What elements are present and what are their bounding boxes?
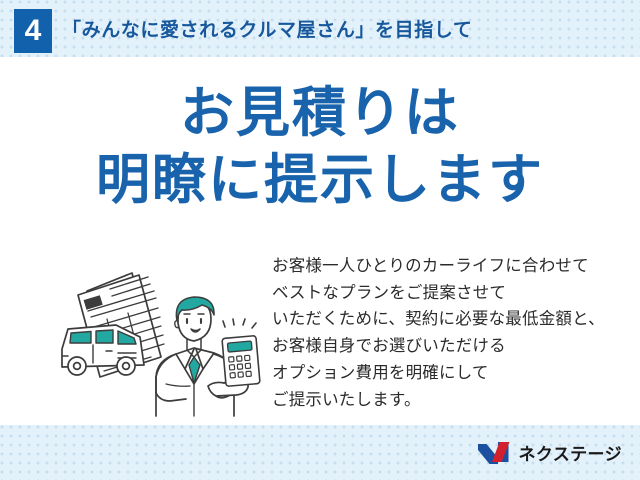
headline: お見積りは 明瞭に提示します [0,83,640,211]
body-line-2: ベストなプランをご提案させて [272,280,640,307]
section-number-badge: 4 [14,9,52,53]
footer-band: ネクステージ [0,425,640,480]
section-number-label: 4 [25,16,42,46]
body-line-6: ご提示いたします。 [272,387,640,414]
body-paragraph: お客様一人ひとりのカーライフに合わせて ベストなプランをご提案させて いただくた… [272,253,640,413]
salesman-quotation-van-illustration [44,253,276,418]
header-inner: 4 「みんなに愛されるクルマ屋さん」を目指して [0,0,640,57]
body-line-1: お客様一人ひとりのカーライフに合わせて [272,253,640,280]
promo-banner: 4 「みんなに愛されるクルマ屋さん」を目指して お見積りは 明瞭に提示します [0,0,640,480]
main-content: お見積りは 明瞭に提示します [0,57,640,425]
brand-name-label: ネクステージ [518,440,622,465]
headline-line-1: お見積りは [0,83,640,144]
header-band: 4 「みんなに愛されるクルマ屋さん」を目指して [0,0,640,57]
body-line-5: オプション費用を明確にして [272,360,640,387]
body-line-3: いただくために、契約に必要な最低金額と、 [272,306,640,333]
illustration-svg [44,253,276,418]
nextage-n-logo-icon [477,441,511,465]
body-line-4: お客様自身でお選びいただける [272,333,640,360]
headline-line-2: 明瞭に提示します [0,150,640,211]
header-title: 「みんなに愛されるクルマ屋さん」を目指して [62,0,472,57]
brand-logo: ネクステージ [477,425,622,480]
